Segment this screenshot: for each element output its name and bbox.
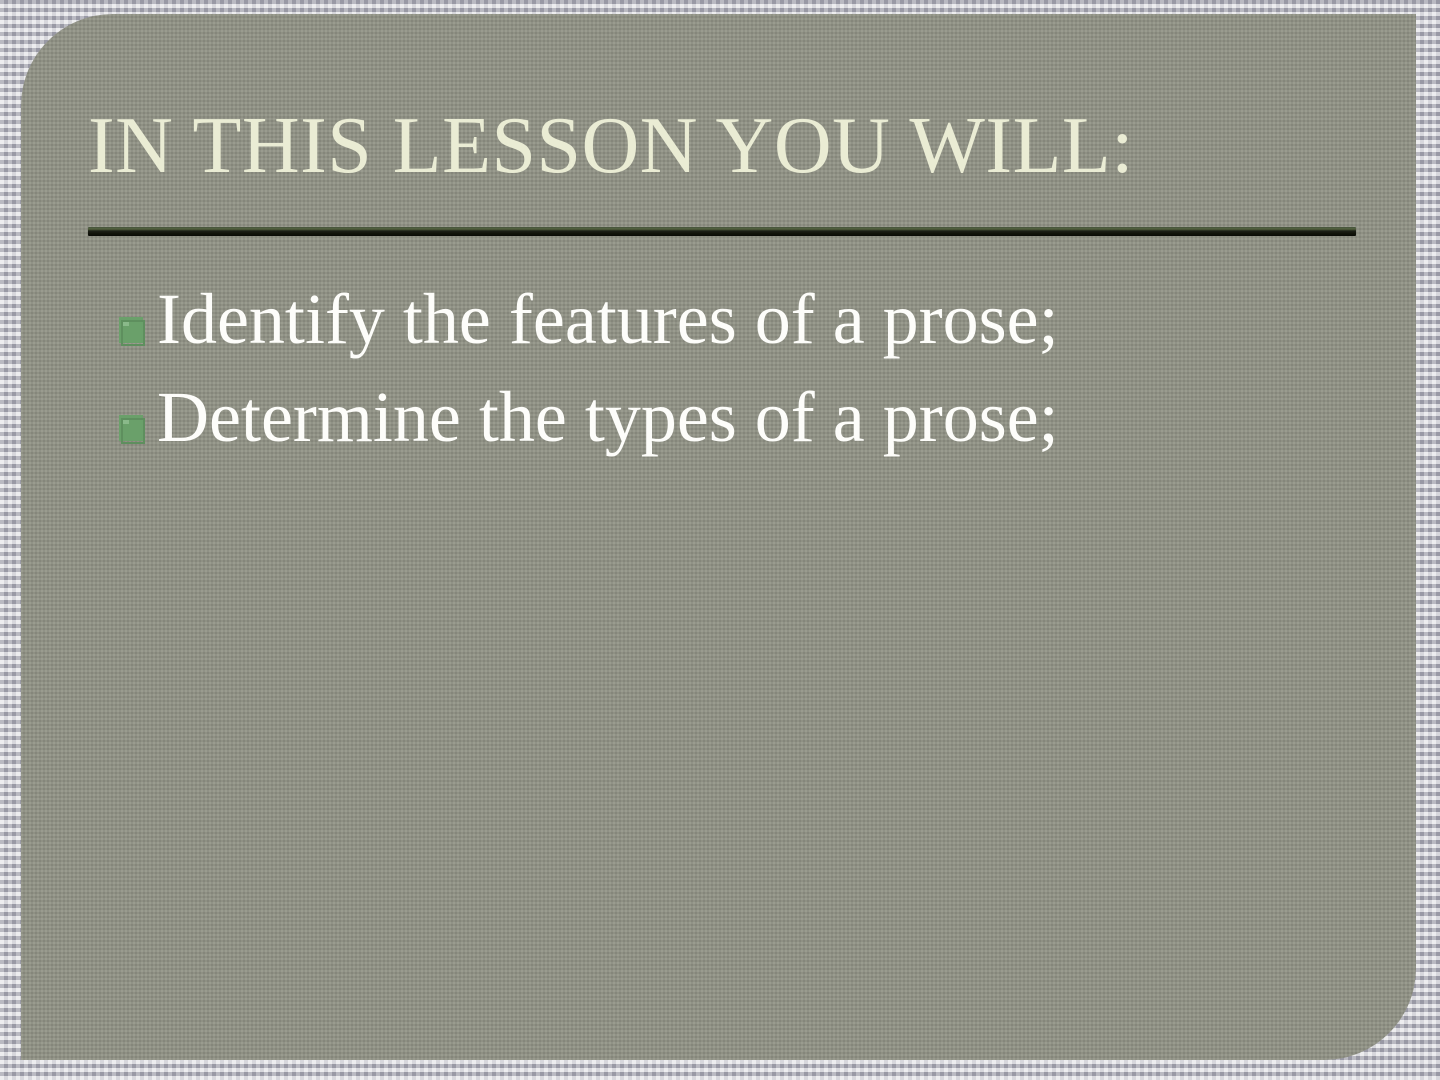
wingdings-square-bullet-icon xyxy=(117,412,147,446)
list-item: Identify the features of a prose; xyxy=(99,276,1389,364)
title-divider xyxy=(88,227,1356,236)
page-title: IN THIS LESSON YOU WILL: xyxy=(88,104,1378,189)
bullet-list: Identify the features of a prose; Determ… xyxy=(99,276,1389,462)
list-item: Determine the types of a prose; xyxy=(99,374,1389,462)
wingdings-square-bullet-icon xyxy=(117,314,147,348)
list-item-label: Identify the features of a prose; xyxy=(157,279,1059,359)
list-item-label: Determine the types of a prose; xyxy=(157,377,1059,457)
slide-body: IN THIS LESSON YOU WILL: Identify the fe… xyxy=(21,14,1416,1060)
slide-frame: IN THIS LESSON YOU WILL: Identify the fe… xyxy=(0,0,1440,1080)
title-block: IN THIS LESSON YOU WILL: xyxy=(88,104,1378,189)
